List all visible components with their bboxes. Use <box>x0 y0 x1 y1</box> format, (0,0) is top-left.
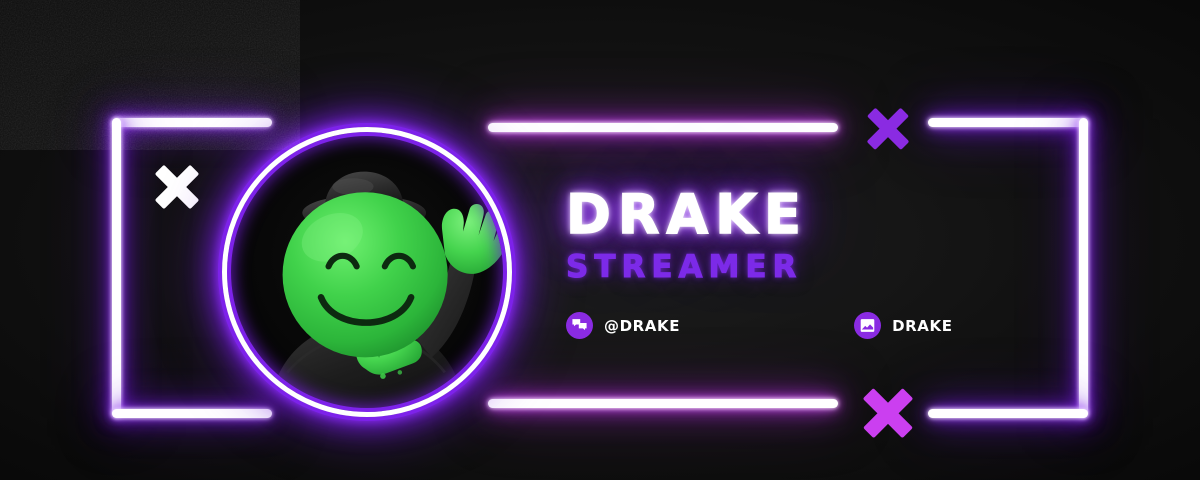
profile-subtitle: STREAMER <box>566 250 953 284</box>
bracket-top-right-horizontal <box>928 118 1088 127</box>
social-links: @DRAKE DRAKE <box>566 312 953 339</box>
social-link-twitch[interactable]: @DRAKE <box>566 312 680 339</box>
x-mark-top-right <box>864 105 912 153</box>
bracket-top-right-vertical <box>1079 118 1088 418</box>
streamer-banner: DRAKE STREAMER @DRAKE <box>0 0 1200 480</box>
social-handle-instagram: DRAKE <box>892 317 952 335</box>
bracket-bottom-right <box>928 409 1088 418</box>
social-link-instagram[interactable]: DRAKE <box>854 312 952 339</box>
avatar[interactable] <box>222 127 512 417</box>
neon-bar-top <box>488 123 838 132</box>
social-handle-twitch: @DRAKE <box>604 317 680 335</box>
x-mark-top-left <box>152 162 202 212</box>
profile-info: DRAKE STREAMER @DRAKE <box>566 186 953 339</box>
page-title: DRAKE <box>566 186 953 244</box>
bracket-top-left-vertical <box>112 118 121 418</box>
x-mark-bottom-right <box>860 385 916 441</box>
avatar-neon-ring <box>222 127 512 417</box>
neon-bar-bottom <box>488 399 838 408</box>
photo-image-icon <box>854 312 881 339</box>
bracket-bottom-right-horizontal <box>928 409 1088 418</box>
chat-bubbles-icon <box>566 312 593 339</box>
bracket-top-left-horizontal <box>112 118 272 127</box>
